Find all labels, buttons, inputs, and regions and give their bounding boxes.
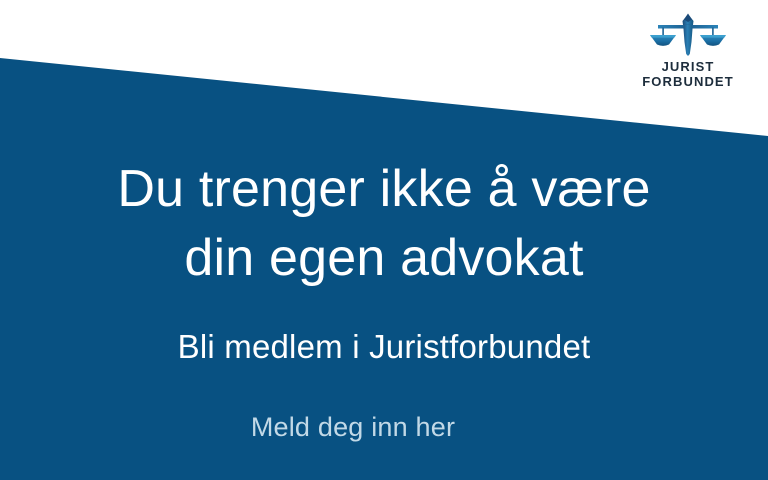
advertisement-banner[interactable]: JURIST FORBUNDET Du trenger ikke å være … xyxy=(0,0,768,480)
subtitle: Bli medlem i Juristforbundet xyxy=(0,328,768,366)
headline-line-2: din egen advokat xyxy=(0,224,768,293)
logo-wordmark-line1: JURIST xyxy=(642,59,734,74)
headline: Du trenger ikke å være din egen advokat xyxy=(0,155,768,292)
scales-of-justice-icon xyxy=(648,12,728,56)
logo-wordmark-line2: FORBUNDET xyxy=(642,74,734,89)
headline-line-1: Du trenger ikke å være xyxy=(0,155,768,224)
logo-wordmark: JURIST FORBUNDET xyxy=(642,59,734,90)
juristforbundet-logo[interactable]: JURIST FORBUNDET xyxy=(640,12,736,100)
signup-link[interactable]: Meld deg inn her xyxy=(251,412,455,442)
cta-container: Meld deg inn her xyxy=(0,412,768,443)
